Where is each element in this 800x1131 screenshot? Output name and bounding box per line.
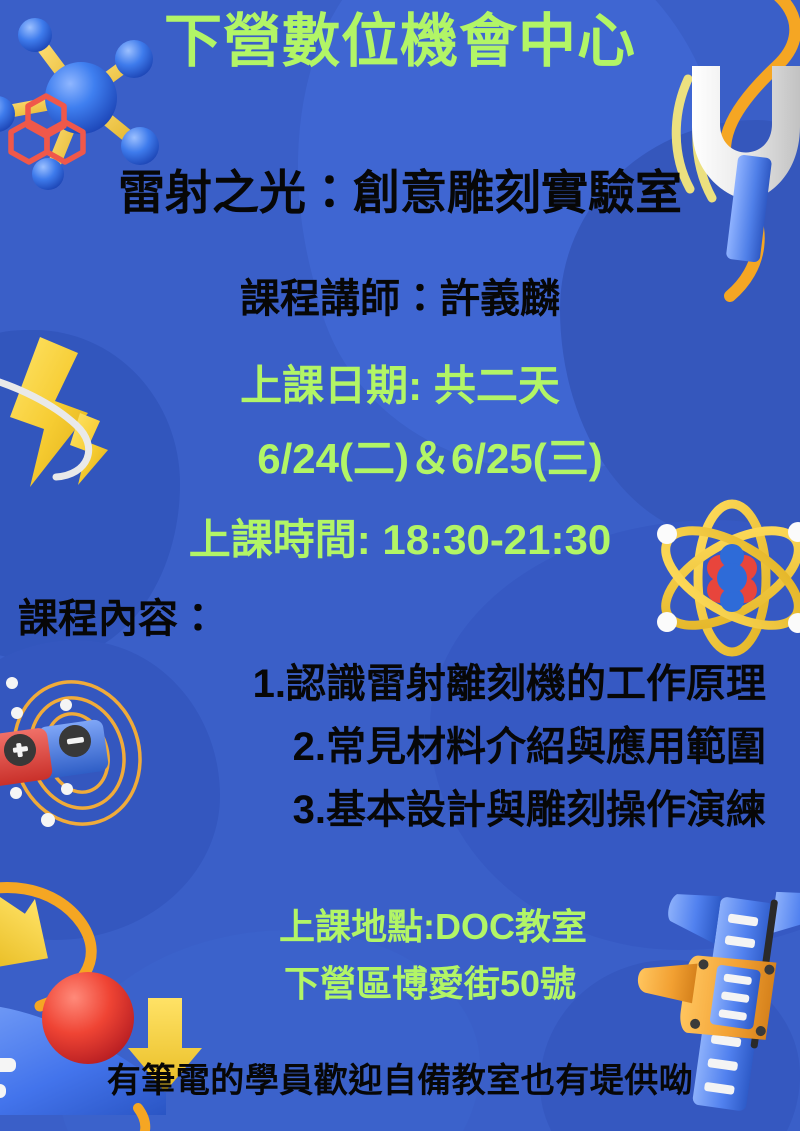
- course-location-address: 下營區博愛街50號: [0, 965, 800, 1003]
- course-subtitle: 雷射之光：創意雕刻實驗室: [0, 168, 800, 217]
- course-date-label: 上課日期: 共二天: [0, 364, 800, 408]
- page-title: 下營數位機會中心: [0, 12, 800, 73]
- course-location-label: 上課地點:DOC教室: [0, 908, 800, 946]
- course-date-value: 6/24(二)＆6/25(三): [0, 437, 800, 481]
- poster-canvas: 下營數位機會中心 雷射之光：創意雕刻實驗室 課程講師：許義麟 上課日期: 共二天…: [0, 0, 800, 1131]
- course-content-label: 課程內容：: [0, 598, 800, 640]
- course-time: 上課時間: 18:30-21:30: [0, 518, 800, 562]
- background-blob: [60, 930, 480, 1131]
- course-content-item: 1.認識雷射離刻機的工作原理: [0, 663, 800, 705]
- footer-note: 有筆電的學員歡迎自備教室也有堤供呦: [0, 1064, 800, 1100]
- course-content-item: 2.常見材料介紹與應用範圍: [0, 726, 800, 768]
- instructor-line: 課程講師：許義麟: [0, 278, 800, 320]
- course-content-item: 3.基本設計與雕刻操作演練: [0, 789, 800, 831]
